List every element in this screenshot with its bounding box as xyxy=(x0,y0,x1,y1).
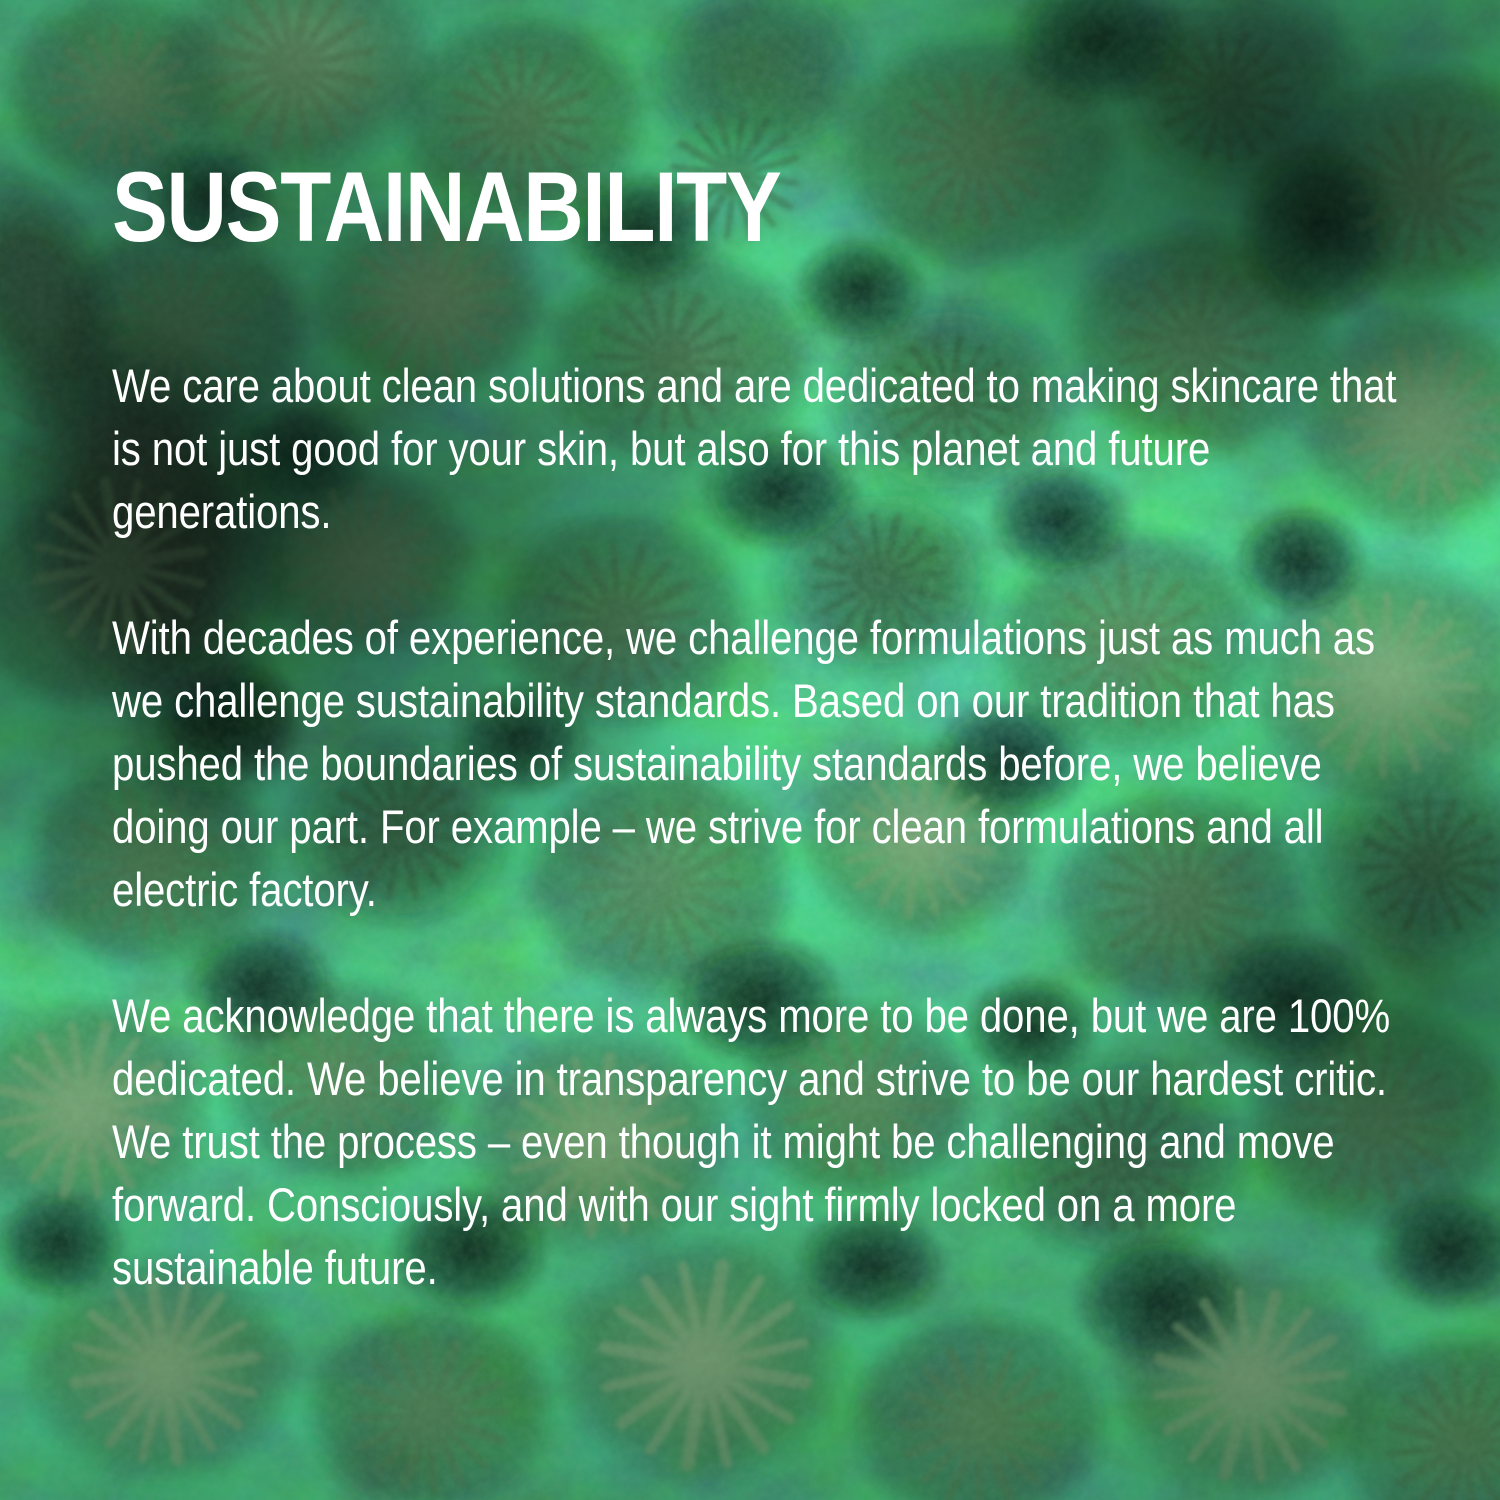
body-copy: We care about clean solutions and are de… xyxy=(112,355,1430,1300)
page-title: SUSTAINABILITY xyxy=(112,157,781,256)
paragraph-3: We acknowledge that there is always more… xyxy=(112,985,1430,1300)
paragraph-2: With decades of experience, we challenge… xyxy=(112,607,1430,922)
paragraph-1: We care about clean solutions and are de… xyxy=(112,355,1430,544)
sustainability-banner: SUSTAINABILITY We care about clean solut… xyxy=(0,0,1500,1500)
